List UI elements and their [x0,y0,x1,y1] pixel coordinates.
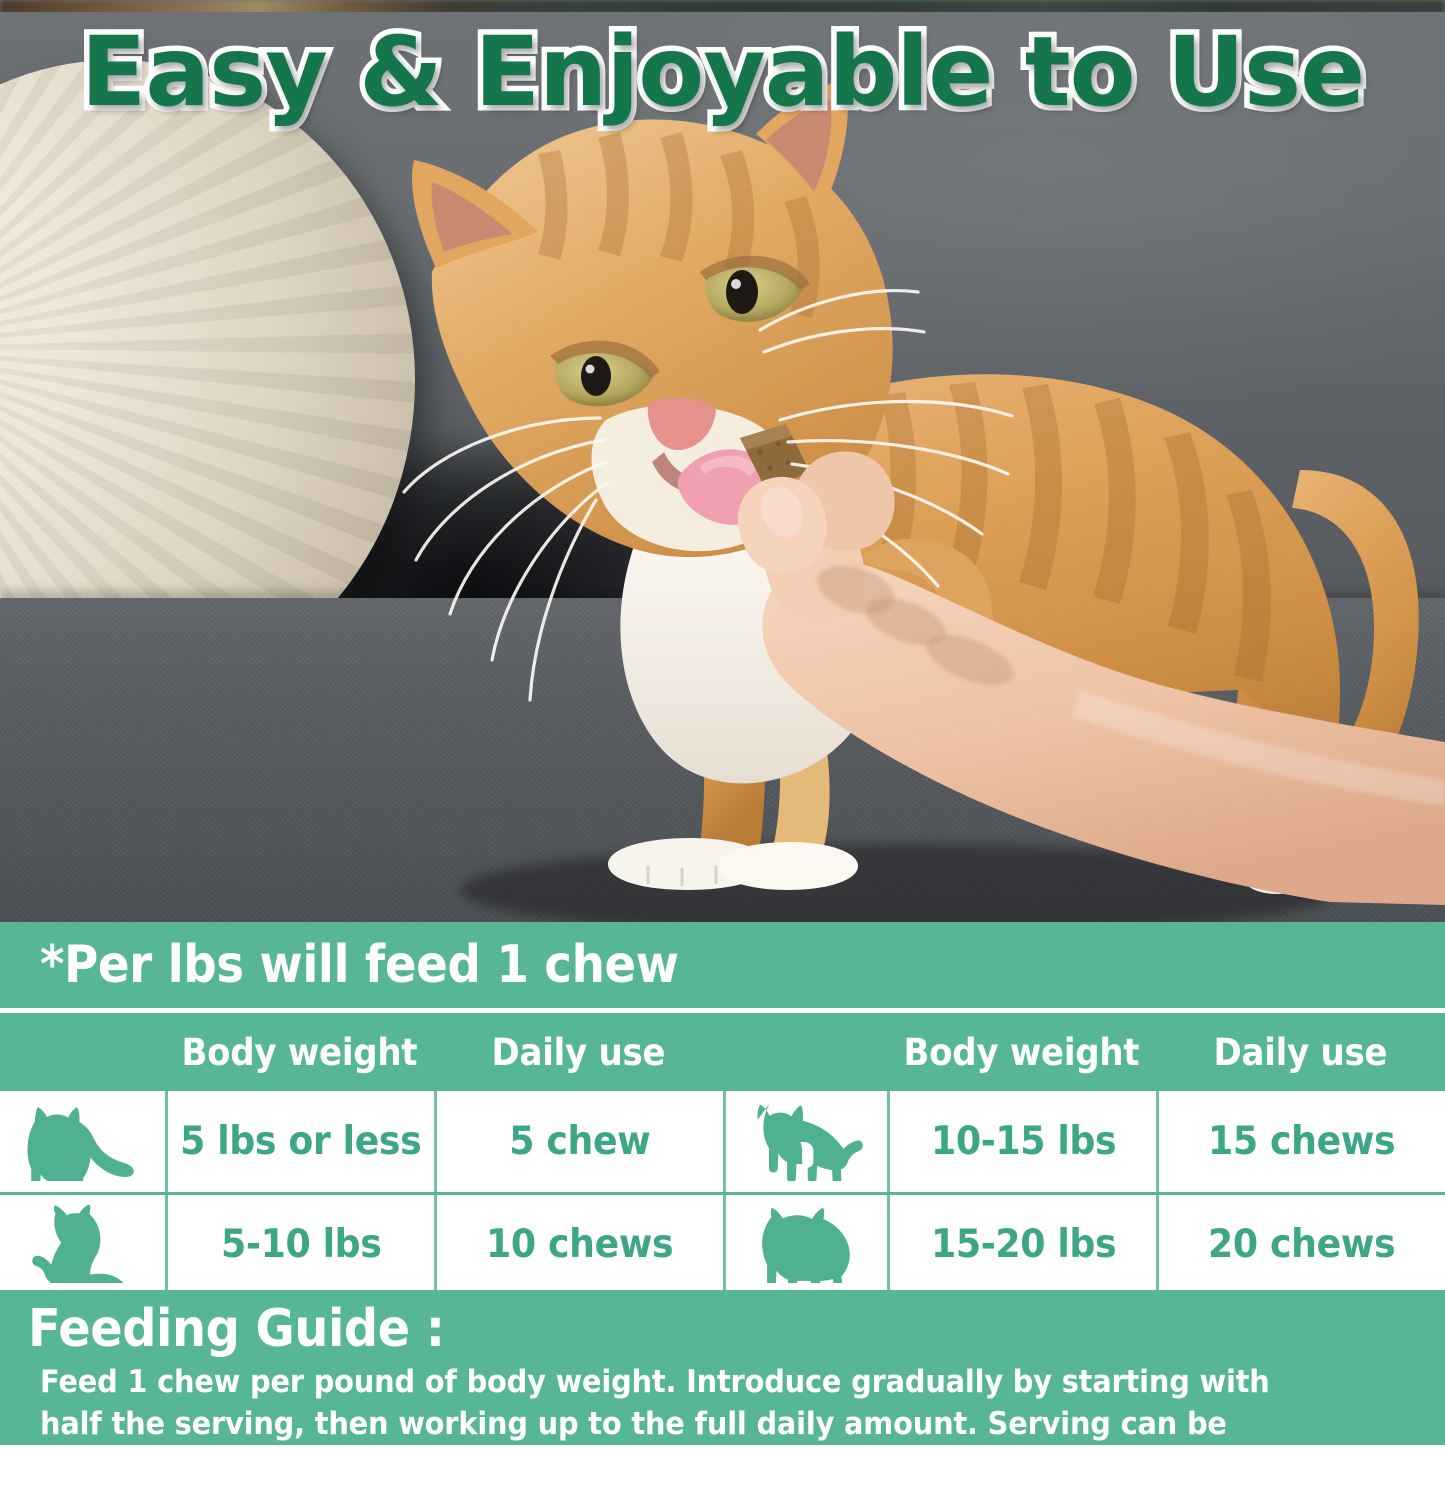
cell-daily-use: 20 chews [1156,1195,1445,1293]
header-daily-use-1: Daily use [445,1013,711,1091]
cell-body-weight: 10-15 lbs [887,1091,1156,1192]
cell-daily-use: 15 chews [1156,1091,1445,1192]
cell-daily-use: 10 chews [434,1195,723,1293]
value-body-weight: 15-20 lbs [931,1222,1116,1267]
per-lbs-note: *Per lbs will feed 1 chew [40,935,679,995]
cell-daily-use: 5 chew [434,1091,723,1192]
cat-crouching-glyph [20,1103,145,1181]
value-daily-use: 15 chews [1209,1119,1396,1164]
feeding-table-header: Body weight Daily use Body weight Daily … [0,1013,1445,1091]
hero-photo: Easy & Enjoyable to Use [0,0,1445,922]
header-spacer-left [7,1013,159,1091]
header-body-weight-1: Body weight [176,1013,423,1091]
feeding-table-body: 5 lbs or less 5 chew 10-15 lbs 15 chews [0,1091,1445,1293]
value-body-weight: 5 lbs or less [180,1119,421,1164]
value-body-weight: 10-15 lbs [931,1119,1116,1164]
cat-fluffy-icon [723,1195,888,1293]
table-row: 5 lbs or less 5 chew 10-15 lbs 15 chews [0,1091,1445,1192]
per-lbs-banner: *Per lbs will feed 1 chew [0,922,1445,1008]
cat-crouching-icon [0,1091,165,1192]
cat-sitting-icon [0,1195,165,1293]
value-daily-use: 20 chews [1209,1222,1396,1267]
cat-fluffy-glyph [744,1205,869,1283]
page-title: Easy & Enjoyable to Use [0,16,1445,128]
cat-sitting-glyph [20,1205,145,1283]
feeding-guide-body: Feed 1 chew per pound of body weight. In… [40,1361,1313,1487]
value-daily-use: 10 chews [486,1222,673,1267]
table-row: 5-10 lbs 10 chews 15-20 lbs 20 chews [0,1192,1445,1293]
header-body-weight-2: Body weight [898,1013,1145,1091]
header-daily-use-2: Daily use [1168,1013,1434,1091]
header-spacer-right [729,1013,881,1091]
cell-body-weight: 15-20 lbs [887,1195,1156,1293]
cell-body-weight: 5-10 lbs [165,1195,434,1293]
cat-walking-glyph [744,1103,869,1181]
cell-body-weight: 5 lbs or less [165,1091,434,1192]
feeding-guide-section: Feeding Guide : Feed 1 chew per pound of… [0,1293,1445,1445]
value-body-weight: 5-10 lbs [221,1222,381,1267]
cat-photo [0,0,1445,922]
cat-walking-icon [723,1091,888,1192]
value-daily-use: 5 chew [509,1119,650,1164]
feeding-guide-title: Feeding Guide : [28,1299,1332,1359]
product-infographic: Easy & Enjoyable to Use *Per lbs will fe… [0,0,1445,1445]
